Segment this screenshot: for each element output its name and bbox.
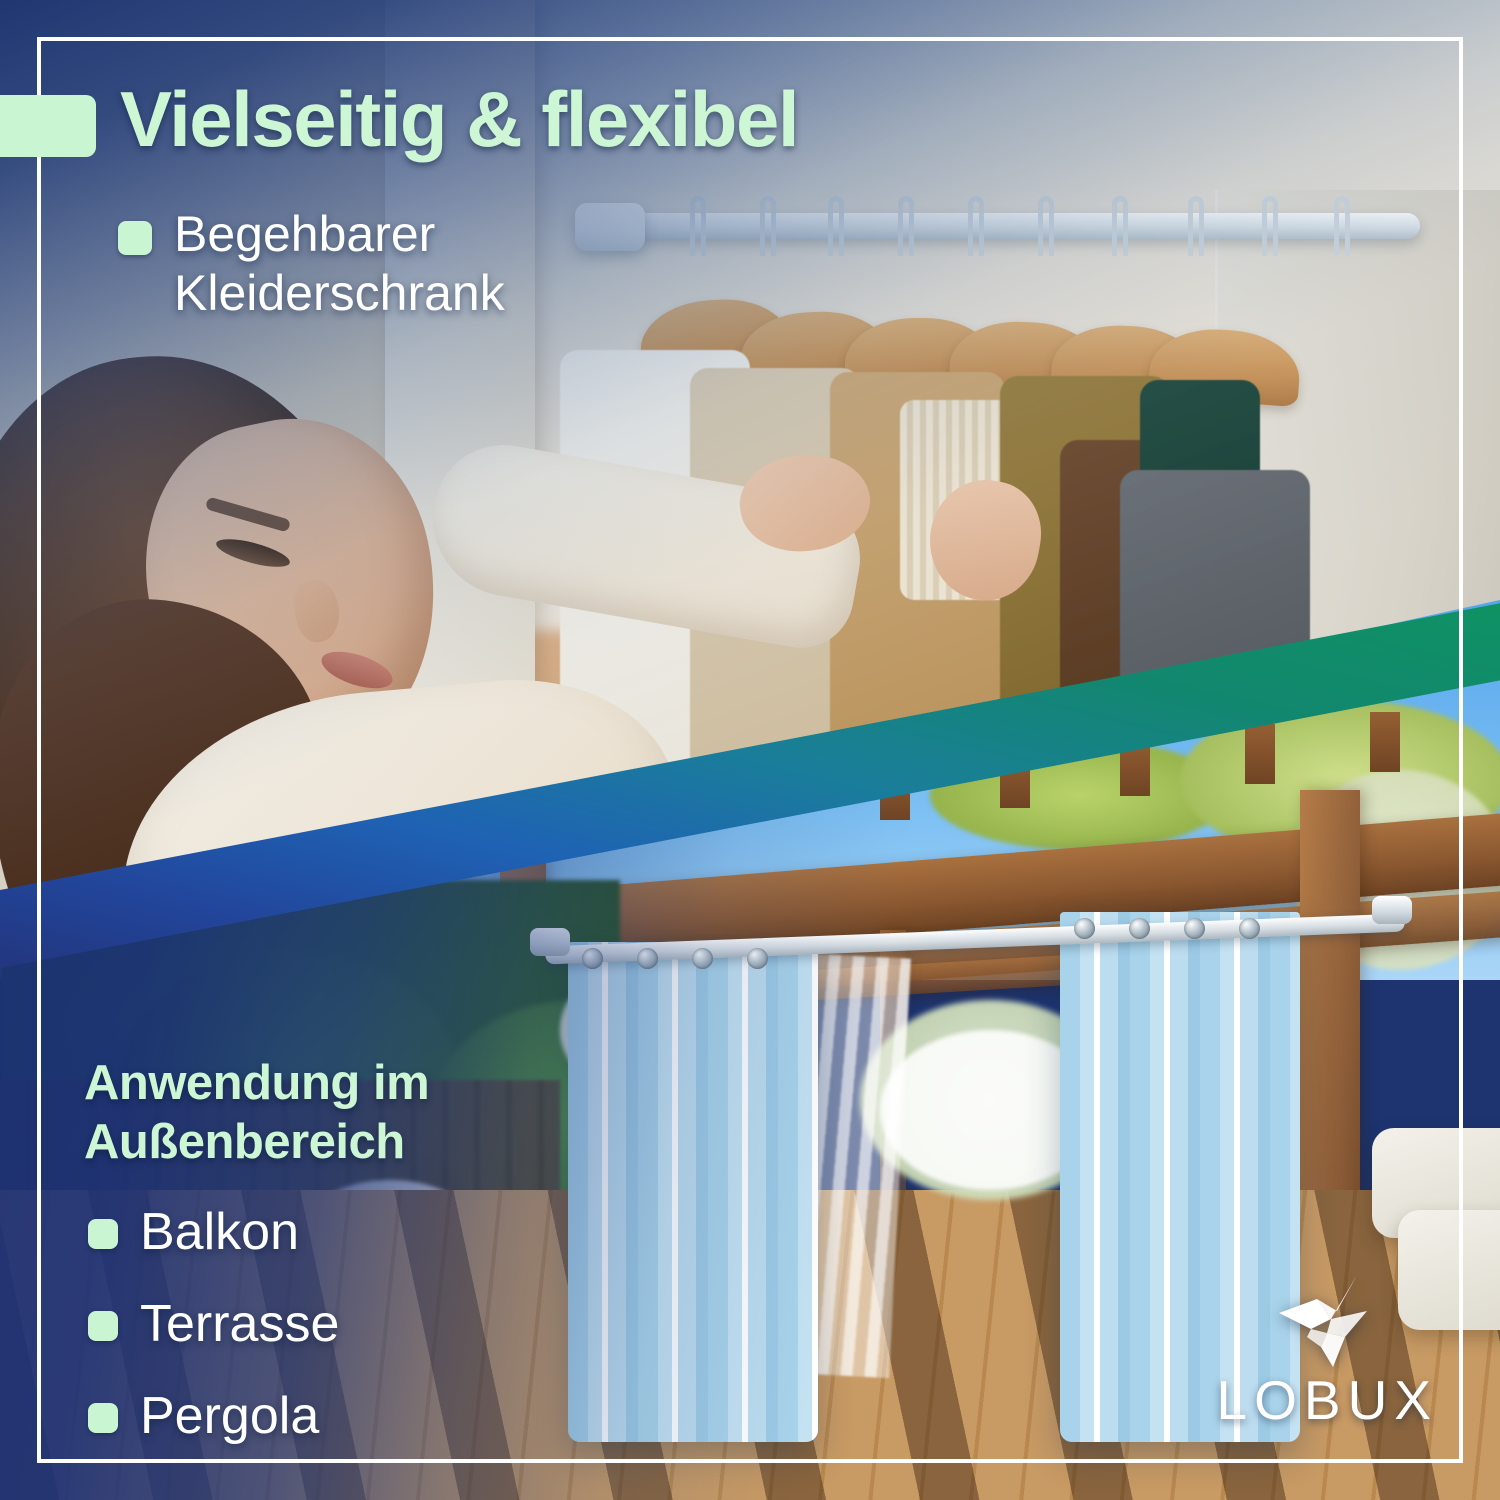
top-bullet-line2: Kleiderschrank [174, 264, 505, 323]
headline-marker-chip [0, 95, 96, 157]
product-infographic: Vielseitig & flexibel Begehbarer Kleider… [0, 0, 1500, 1500]
list-item: Terrasse [88, 1298, 339, 1350]
top-bullet-line1: Begehbarer [174, 205, 505, 264]
page-title: Vielseitig & flexibel [120, 74, 798, 165]
list-item: Begehbarer Kleiderschrank [118, 205, 505, 323]
bullet-square-icon [118, 221, 152, 255]
section-subtitle: Anwendung im Außenbereich [84, 1054, 429, 1172]
top-feature-list: Begehbarer Kleiderschrank [118, 205, 505, 323]
brand-logo: LOBUX [1217, 1267, 1438, 1428]
list-item: Pergola [88, 1390, 339, 1442]
subtitle-line2: Außenbereich [84, 1113, 429, 1172]
bird-origami-icon [1271, 1267, 1383, 1371]
usage-label: Terrasse [140, 1298, 339, 1350]
brand-wordmark: LOBUX [1217, 1373, 1438, 1428]
bullet-square-icon [88, 1311, 118, 1341]
usage-label: Balkon [140, 1206, 299, 1258]
usage-label: Pergola [140, 1390, 319, 1442]
bullet-square-icon [88, 1219, 118, 1249]
top-bullet-text: Begehbarer Kleiderschrank [174, 205, 505, 323]
usage-list: Balkon Terrasse Pergola [88, 1206, 339, 1442]
subtitle-line1: Anwendung im [84, 1054, 429, 1113]
list-item: Balkon [88, 1206, 339, 1258]
bullet-square-icon [88, 1403, 118, 1433]
